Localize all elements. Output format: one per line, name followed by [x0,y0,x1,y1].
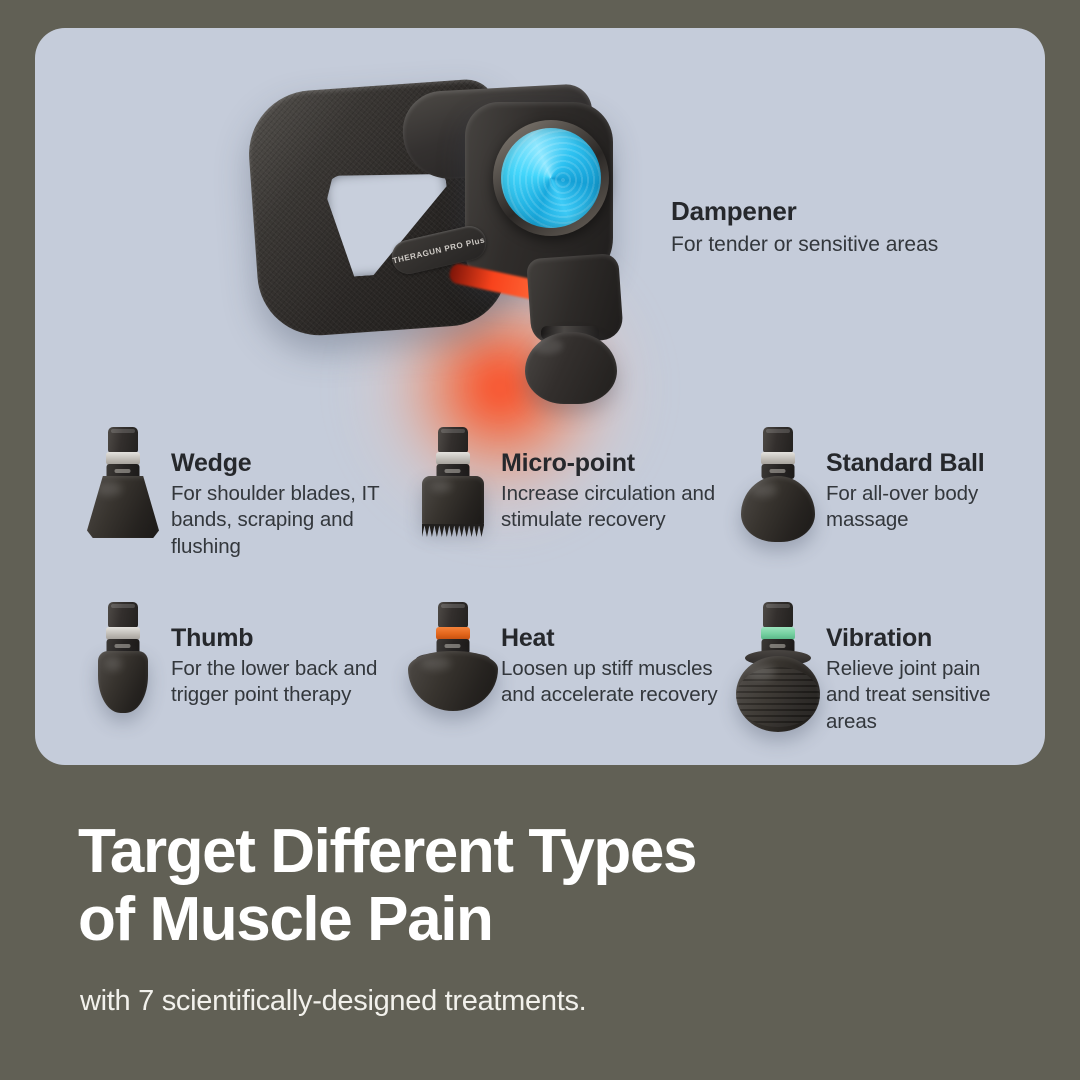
attachment-description: Loosen up stiff muscles and accelerate r… [501,656,730,709]
thumb-head [98,651,148,713]
wedge-attachment-icon [75,423,171,543]
attachment-description: For all-over body massage [826,481,1015,534]
standard-ball-attachment-icon [730,423,826,543]
attachment-description: Increase circulation and stimulate recov… [501,481,730,534]
attachment-description: For the lower back and trigger point the… [171,656,405,709]
attachment-item-vibration: Vibration Relieve joint pain and treat s… [730,598,1015,735]
attachment-neck-top [108,602,138,628]
standard-ball-head [741,476,815,542]
rotary-dial-icon[interactable] [493,120,609,236]
theragun-pro-plus-massage-gun: THERAGUN PRO Plus [253,76,673,376]
attachment-item-standard-ball: Standard Ball For all-over body massage [730,423,1015,598]
dampener-description: For tender or sensitive areas [671,231,991,258]
attachment-item-wedge: Wedge For shoulder blades, IT bands, scr… [75,423,405,598]
micro-point-head [422,476,484,526]
attachment-title: Micro-point [501,449,730,478]
attachment-description: For shoulder blades, IT bands, scraping … [171,481,405,560]
attachment-title: Thumb [171,624,405,653]
attachment-title: Heat [501,624,730,653]
attachment-item-micro-point: Micro-point Increase circulation and sti… [405,423,730,598]
attachment-grid: Wedge For shoulder blades, IT bands, scr… [75,423,1015,735]
attachment-item-thumb: Thumb For the lower back and trigger poi… [75,598,405,735]
headline-line-2: of Muscle Pain [78,886,978,954]
attachment-neck-top [763,427,793,453]
vibration-attachment-icon [730,598,826,718]
heat-attachment-icon [405,598,501,718]
attachment-neck-top [438,602,468,628]
page-title: Target Different Types of Muscle Pain [78,818,978,953]
thumb-attachment-icon [75,598,171,718]
attachment-title: Standard Ball [826,449,1015,478]
rotary-dial-face [501,128,601,228]
attachment-neck-top [763,602,793,628]
dampener-title: Dampener [671,196,991,227]
attachment-title: Vibration [826,624,1015,653]
attachment-description: Relieve joint pain and treat sensitive a… [826,656,1015,735]
attachment-item-heat: Heat Loosen up stiff muscles and acceler… [405,598,730,735]
vibration-head [736,656,820,732]
attachment-neck-top [108,427,138,453]
attachment-neck-top [438,427,468,453]
headline-line-1: Target Different Types [78,818,978,886]
micro-point-attachment-icon [405,423,501,543]
dampener-callout: Dampener For tender or sensitive areas [671,196,991,258]
dampener-attachment-icon [525,332,617,404]
page-subtitle: with 7 scientifically-designed treatment… [80,985,586,1018]
wedge-head [87,476,159,538]
heat-head [408,651,498,711]
attachment-title: Wedge [171,449,405,478]
product-attachments-card: THERAGUN PRO Plus Dampener For tender or… [35,28,1045,765]
micro-point-teeth [422,524,484,537]
